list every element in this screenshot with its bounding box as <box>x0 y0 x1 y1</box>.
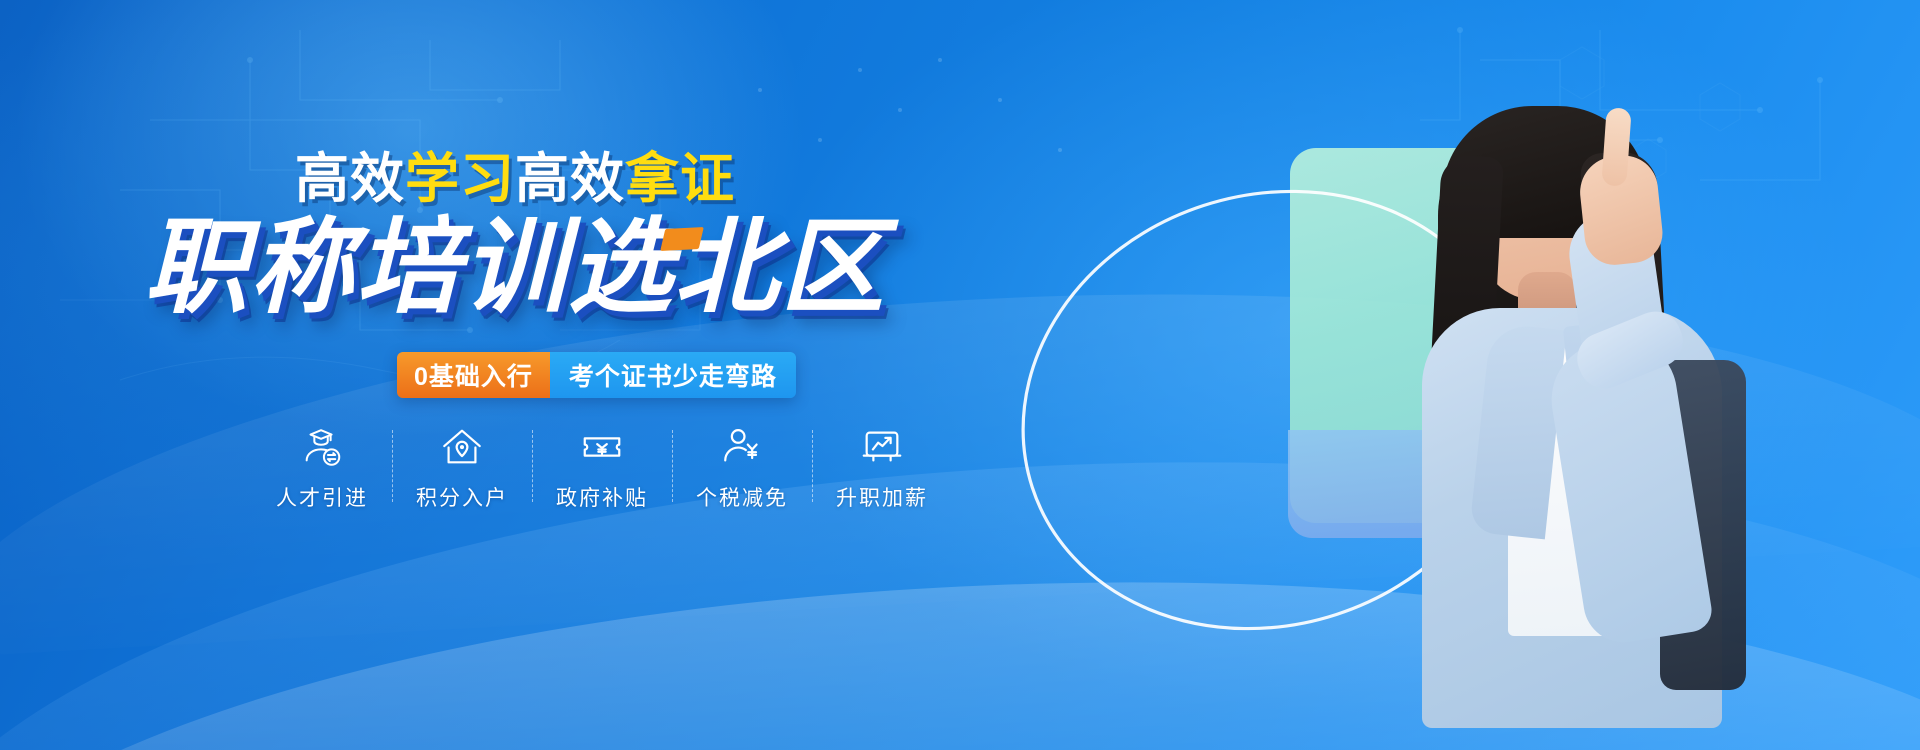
feature-label: 个税减免 <box>696 482 788 512</box>
subheadline-part-4: 拿证 <box>625 149 735 209</box>
banner-subheadline: 高效学习高效拿证 <box>0 152 1030 206</box>
home-location-icon <box>439 424 485 470</box>
feature-label: 政府补贴 <box>556 482 648 512</box>
tagline-badge: 0基础入行 考个证书少走弯路 <box>397 352 796 398</box>
feature-item-points-residency[interactable]: 积分入户 <box>392 424 532 512</box>
subheadline-part-2: 学习 <box>405 149 515 209</box>
banner-content: 高效学习高效拿证 职称培训选北区 0基础入行 考个证书少走弯路 <box>0 0 1030 750</box>
banner-headline: 职称培训选北区 <box>0 216 1030 320</box>
feature-item-tax-reduction[interactable]: 个税减免 <box>672 424 812 512</box>
feature-item-talent-import[interactable]: 人才引进 <box>252 424 392 512</box>
feature-item-government-subsidy[interactable]: 政府补贴 <box>532 424 672 512</box>
feature-item-promotion-raise[interactable]: 升职加薪 <box>812 424 952 512</box>
feature-list: 人才引进 积分入户 <box>252 424 952 534</box>
subheadline-part-3: 高效 <box>515 149 625 209</box>
promo-banner: 高效学习高效拿证 职称培训选北区 0基础入行 考个证书少走弯路 <box>0 0 1920 750</box>
ticket-yuan-icon <box>579 424 625 470</box>
graduate-exchange-icon <box>299 424 345 470</box>
person-yuan-icon <box>719 424 765 470</box>
badge-left-label: 0基础入行 <box>397 352 550 398</box>
feature-label: 人才引进 <box>276 482 368 512</box>
presenter-photo <box>1330 60 1760 750</box>
subheadline-part-1: 高效 <box>295 149 405 209</box>
feature-label: 升职加薪 <box>836 482 928 512</box>
orange-accent-mark <box>660 227 704 251</box>
hero-illustration <box>1030 0 1920 750</box>
badge-right-label: 考个证书少走弯路 <box>550 352 796 398</box>
feature-label: 积分入户 <box>416 482 508 512</box>
chart-board-icon <box>859 424 905 470</box>
